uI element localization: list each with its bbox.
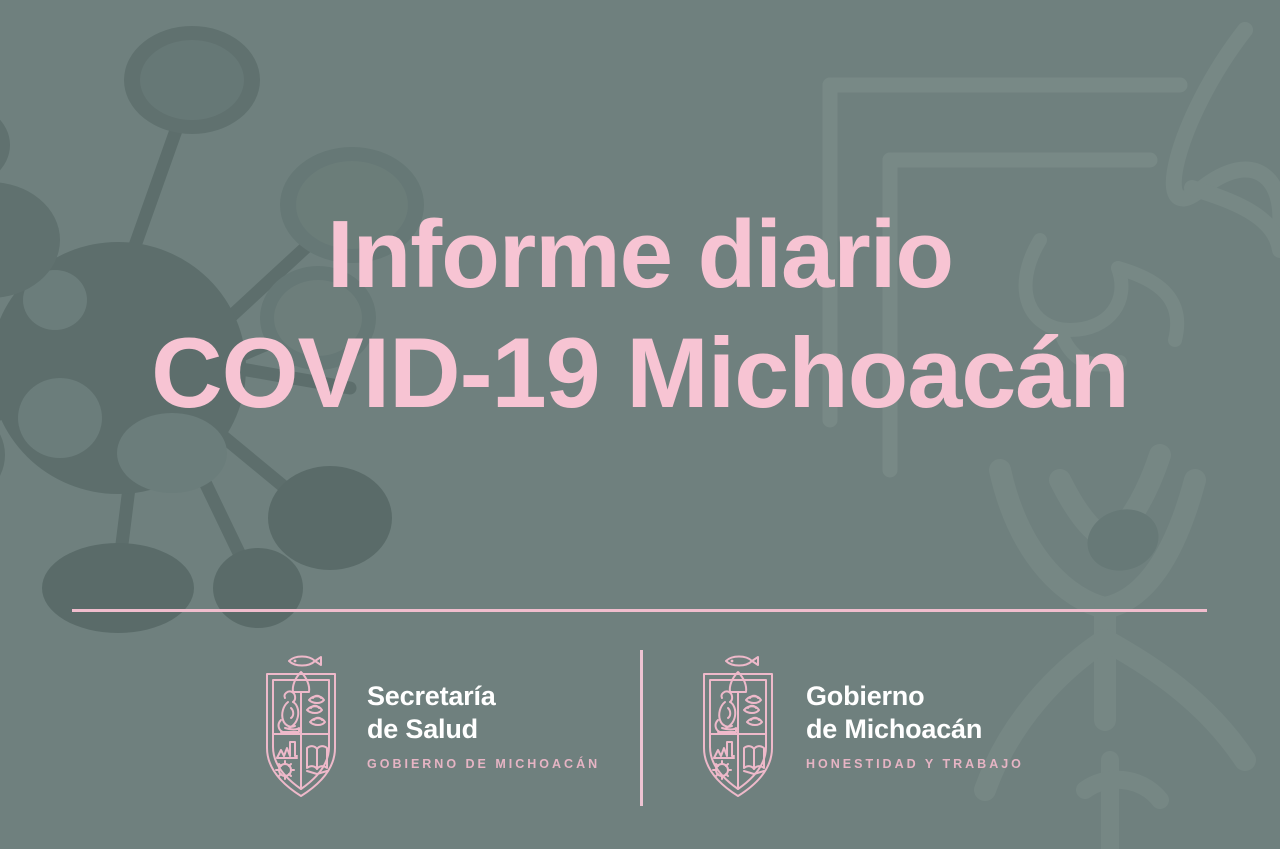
logo-name-line-1: Secretaría [367, 680, 600, 713]
footer-logo-band: Secretaría de Salud GOBIERNO DE MICHOACÁ… [0, 640, 1280, 815]
logo-text-block: Secretaría de Salud GOBIERNO DE MICHOACÁ… [367, 680, 600, 771]
title-line-1: Informe diario [0, 196, 1280, 314]
ornament-center-icon [1079, 500, 1166, 579]
logo-name-line-2: de Michoacán [806, 713, 1024, 746]
michoacan-coat-of-arms-icon [255, 648, 347, 803]
logo-tagline: HONESTIDAD Y TRABAJO [806, 757, 1024, 771]
logo-gobierno-de-michoacan: Gobierno de Michoacán HONESTIDAD Y TRABA… [690, 648, 1024, 803]
logo-name-line-1: Gobierno [806, 680, 1024, 713]
logo-text-block: Gobierno de Michoacán HONESTIDAD Y TRABA… [806, 680, 1024, 771]
logo-name-line-2: de Salud [367, 713, 600, 746]
logo-tagline: GOBIERNO DE MICHOACÁN [367, 757, 600, 771]
page-title: Informe diario COVID-19 Michoacán [0, 196, 1280, 432]
michoacan-coat-of-arms-icon [690, 648, 786, 803]
horizontal-divider [72, 609, 1207, 612]
title-line-2: COVID-19 Michoacán [0, 314, 1280, 432]
vertical-divider [640, 650, 643, 806]
logo-secretaria-de-salud: Secretaría de Salud GOBIERNO DE MICHOACÁ… [255, 648, 600, 803]
poster-canvas: Informe diario COVID-19 Michoacán [0, 0, 1280, 849]
